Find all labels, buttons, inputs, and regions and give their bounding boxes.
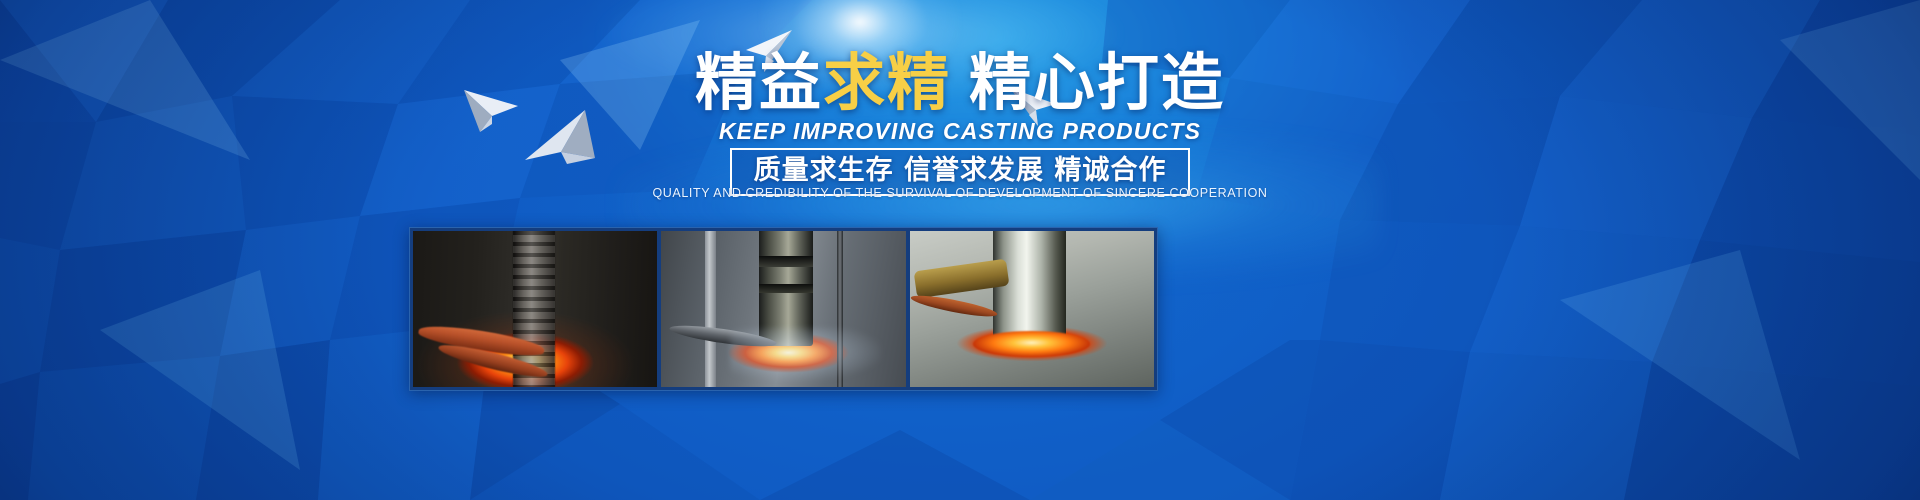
spindle-ring-upper bbox=[759, 256, 813, 267]
headline-part-3: 精心打造 bbox=[969, 46, 1225, 119]
spindle-ring-lower bbox=[759, 284, 813, 293]
subtitle-english: KEEP IMPROVING CASTING PRODUCTS bbox=[0, 118, 1920, 145]
headline-part-1: 精益 bbox=[695, 46, 823, 119]
machine-rail-left bbox=[705, 231, 716, 387]
slogan-english: QUALITY AND CREDIBILITY OF THE SURVIVAL … bbox=[0, 186, 1920, 200]
glowing-induction-ring bbox=[973, 331, 1090, 358]
chrome-cylinder bbox=[993, 231, 1066, 343]
steam-cloud bbox=[730, 328, 881, 381]
photo-induction-coil-cylinder bbox=[910, 231, 1154, 387]
copper-lead bbox=[910, 291, 998, 320]
page-title: 精益求精精心打造 bbox=[0, 52, 1920, 114]
photo-induction-heating-shaft bbox=[413, 231, 657, 387]
slogan-chinese: 质量求生存 信誉求发展 精诚合作 bbox=[754, 154, 1167, 188]
photo-strip bbox=[409, 227, 1158, 391]
promo-banner: 精益求精精心打造 KEEP IMPROVING CASTING PRODUCTS… bbox=[0, 0, 1920, 500]
photo-induction-quenching-spindle bbox=[661, 231, 905, 387]
headline-part-2: 求精 bbox=[823, 46, 951, 119]
